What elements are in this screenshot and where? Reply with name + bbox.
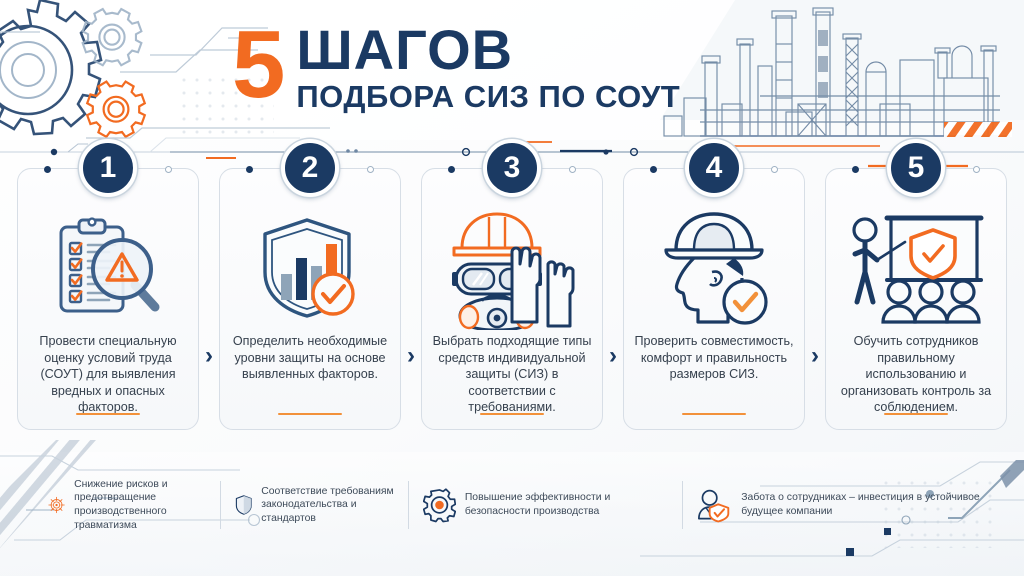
step-underline	[480, 413, 544, 416]
step-card-5[interactable]: 5	[825, 168, 1007, 430]
step-chevron-2: ›	[404, 344, 418, 368]
step-text-5: Обучить сотрудников правильному использо…	[826, 333, 1006, 416]
step-chevron-1: ›	[202, 344, 216, 368]
gear-dot-icon	[423, 482, 456, 528]
connector-node-left	[44, 166, 51, 173]
connector-node-left	[852, 166, 859, 173]
step-chevron-3: ›	[606, 344, 620, 368]
step-icon-1	[45, 203, 171, 333]
benefit-text-4: Забота о сотрудниках – инвестиция в усто…	[741, 491, 980, 518]
step-badge-4: 4	[685, 139, 743, 197]
headline-sub: ПОДБОРА СИЗ ПО СОУТ	[296, 80, 680, 114]
step-icon-2	[249, 203, 371, 333]
connector-node-right	[973, 166, 980, 173]
benefit-text-2: Соответствие требованиям законодательств…	[261, 485, 394, 526]
step-card-2[interactable]: 2 Определить необходимые уровни защиты н…	[219, 168, 401, 430]
connector-node-right	[569, 166, 576, 173]
step-badge-3: 3	[483, 139, 541, 197]
step-badge-1: 1	[79, 139, 137, 197]
step-underline	[884, 413, 948, 416]
steps-row: 1	[0, 168, 1024, 448]
header: 5 ШАГОВ ПОДБОРА СИЗ ПО СОУТ	[0, 0, 1024, 150]
benefit-text-1: Снижение рисков и предотвращение произво…	[74, 478, 206, 532]
step-text-1: Провести специальную оценку условий труд…	[18, 333, 198, 416]
connector-node-right	[367, 166, 374, 173]
benefit-item-3[interactable]: Повышение эффективности и безопасности п…	[409, 482, 682, 528]
step-icon-4	[650, 203, 778, 333]
shield-icon	[235, 482, 253, 528]
step-underline	[76, 413, 140, 416]
benefit-item-4[interactable]: Забота о сотрудниках – инвестиция в усто…	[682, 482, 994, 528]
benefit-item-2[interactable]: Соответствие требованиям законодательств…	[221, 482, 408, 528]
step-text-2: Определить необходимые уровни защиты на …	[220, 333, 400, 383]
step-icon-3	[442, 203, 582, 333]
connector-node-left	[246, 166, 253, 173]
benefits-row: Снижение рисков и предотвращение произво…	[34, 466, 994, 544]
step-card-3[interactable]: 3	[421, 168, 603, 430]
connector-node-left	[650, 166, 657, 173]
title-block: 5 ШАГОВ ПОДБОРА СИЗ ПО СОУТ	[232, 22, 680, 114]
headline-number: 5	[232, 22, 282, 108]
headline-main: ШАГОВ	[296, 24, 680, 76]
step-chevron-4: ›	[808, 344, 822, 368]
connector-node-right	[165, 166, 172, 173]
benefit-text-3: Повышение эффективности и безопасности п…	[465, 491, 668, 518]
benefit-item-1[interactable]: Снижение рисков и предотвращение произво…	[34, 478, 220, 532]
step-underline	[682, 413, 746, 416]
step-badge-2: 2	[281, 139, 339, 197]
person-shield-check-icon	[696, 482, 732, 528]
step-text-4: Проверить совместимость, комфорт и прави…	[624, 333, 804, 383]
step-badge-5: 5	[887, 139, 945, 197]
step-card-1[interactable]: 1	[17, 168, 199, 430]
connector-node-left	[448, 166, 455, 173]
step-icon-5	[843, 203, 989, 333]
connector-node-right	[771, 166, 778, 173]
step-underline	[278, 413, 342, 416]
gloves-icon	[512, 248, 573, 326]
step-text-3: Выбрать подходящие типы средств индивиду…	[422, 333, 602, 416]
target-crosshair-icon	[48, 483, 65, 527]
step-card-4[interactable]: 4 Проверить совм	[623, 168, 805, 430]
infographic-canvas: 5 ШАГОВ ПОДБОРА СИЗ ПО СОУТ 1	[0, 0, 1024, 576]
